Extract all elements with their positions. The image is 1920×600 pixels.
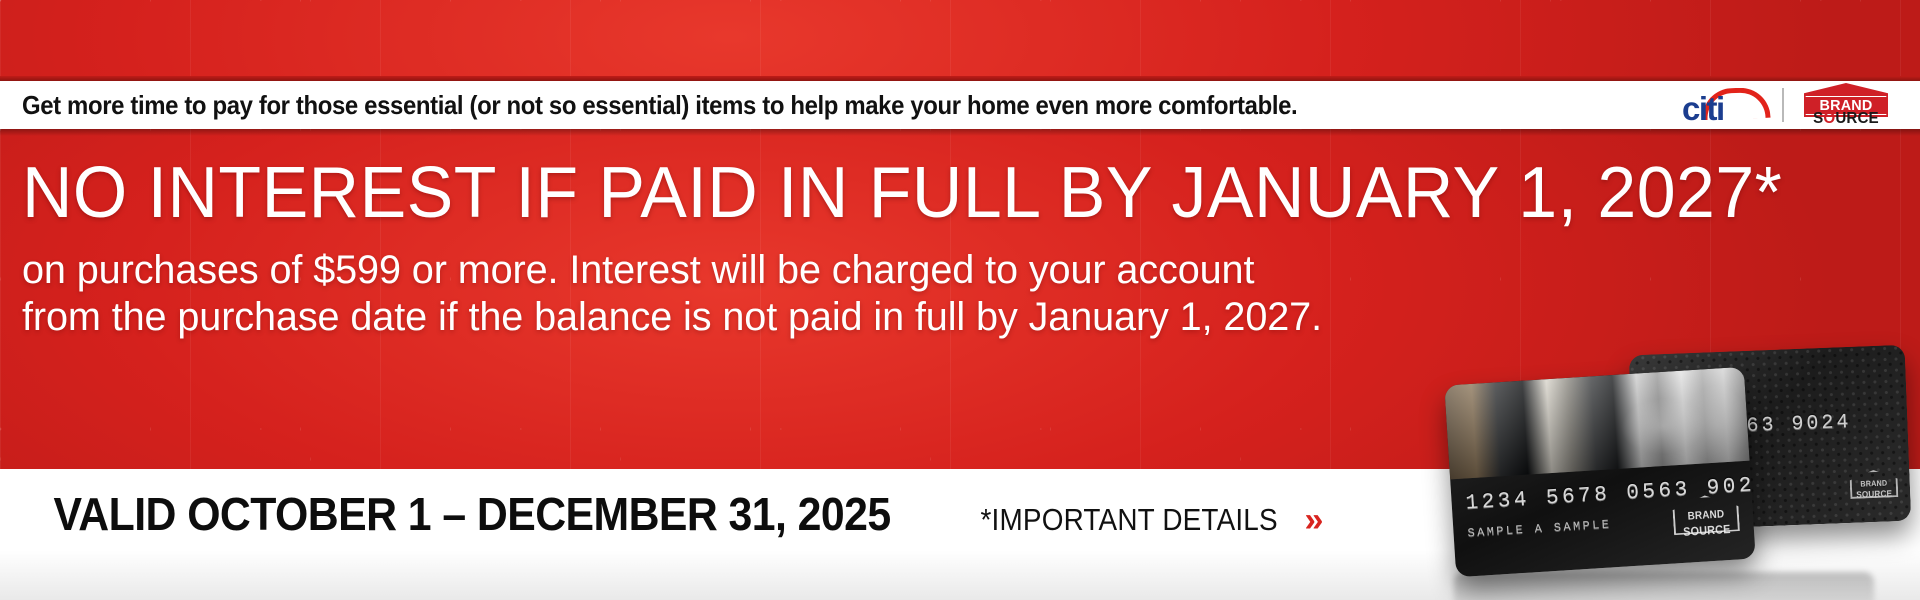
brandsource-s: S [1813,110,1823,127]
brandsource-source-text: SOURCE [1804,111,1888,127]
important-details-link[interactable]: *IMPORTANT DETAILS » [964,503,1317,537]
brandsource-logo: BRAND SOURCE [1798,82,1894,128]
logo-cluster: citi BRAND SOURCE [1682,81,1894,129]
brandsource-urce: URCE [1835,110,1878,127]
bottom-bar: VALID OCTOBER 1 – DECEMBER 31, 2025 *IMP… [0,469,1920,600]
main-red-panel: NO INTEREST IF PAID IN FULL BY JANUARY 1… [0,129,1920,469]
subcopy-line-2: from the purchase date if the balance is… [22,294,1322,341]
headline-offer: NO INTEREST IF PAID IN FULL BY JANUARY 1… [22,157,1782,229]
important-details-label: *IMPORTANT DETAILS [981,504,1278,535]
brandsource-o: O [1823,110,1835,127]
promotional-banner: Get more time to pay for those essential… [0,0,1920,600]
valid-dates-row: VALID OCTOBER 1 – DECEMBER 31, 2025 *IMP… [22,491,1317,537]
citi-logo: citi [1682,83,1768,127]
logo-divider [1782,88,1784,122]
subcopy-line-1: on purchases of $599 or more. Interest w… [22,247,1322,294]
top-red-band [0,0,1920,80]
valid-dates-text: VALID OCTOBER 1 – DECEMBER 31, 2025 [54,491,891,537]
citi-wordmark: citi [1682,92,1724,125]
offer-subcopy: on purchases of $599 or more. Interest w… [22,247,1335,341]
tagline-strip: Get more time to pay for those essential… [0,81,1920,129]
tagline-text: Get more time to pay for those essential… [22,90,1297,121]
double-chevron-right-icon: » [1304,503,1317,537]
